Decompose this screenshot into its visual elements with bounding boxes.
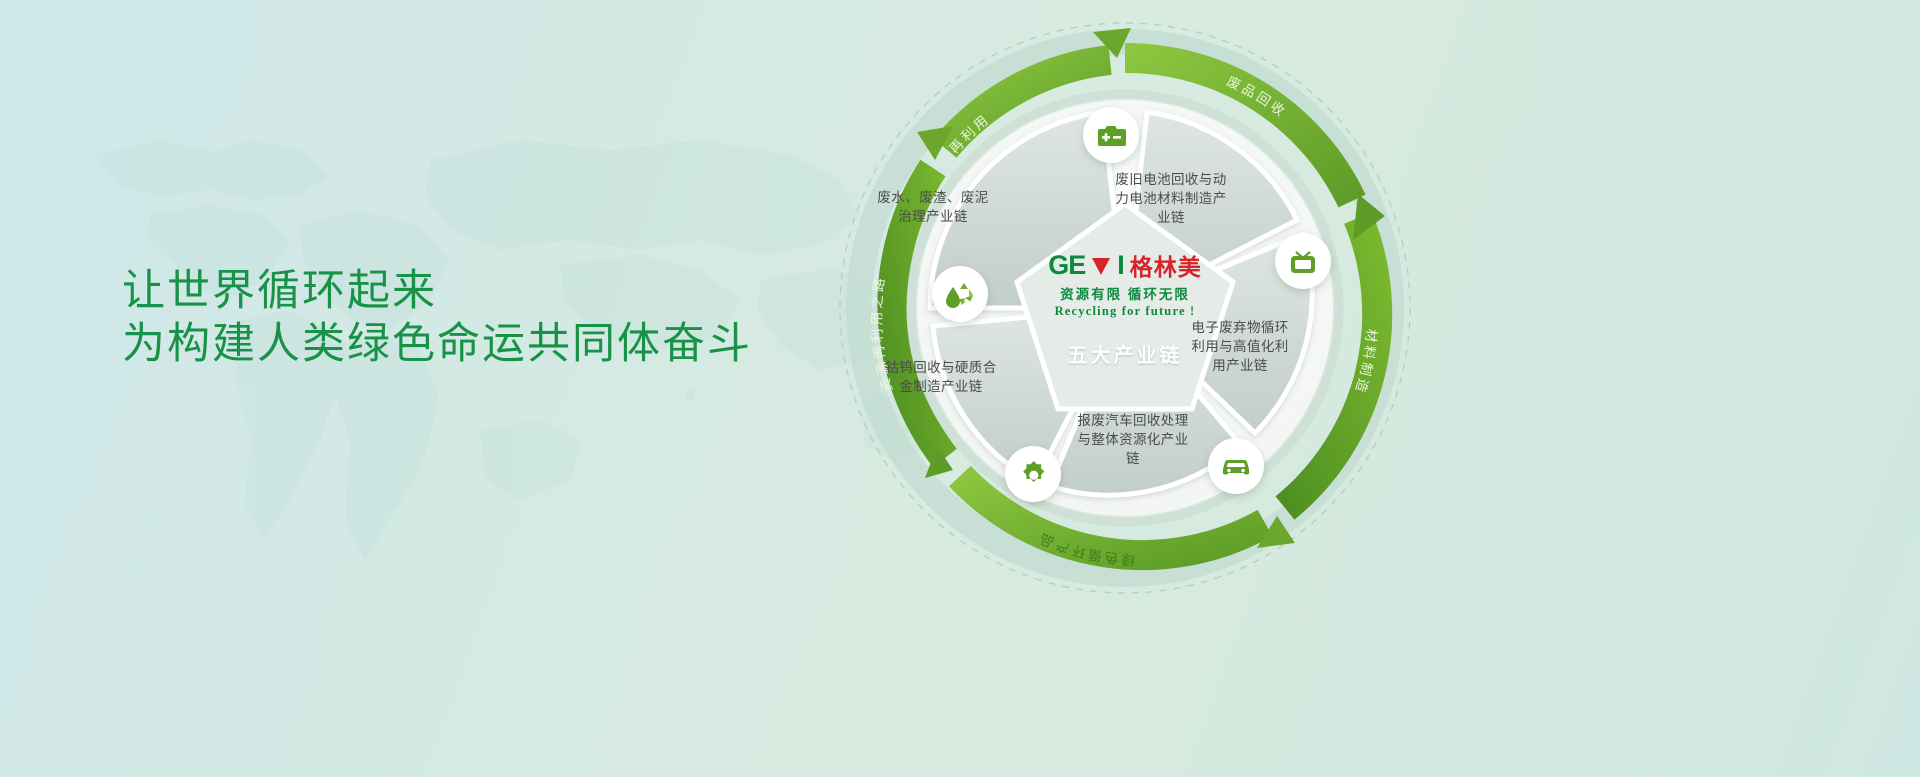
page-title: 让世界循环起来 为构建人类绿色命运共同体奋斗	[122, 265, 902, 371]
gear-icon	[1005, 446, 1061, 502]
headline-line-2: 为构建人类绿色命运共同体奋斗	[122, 318, 902, 371]
car-icon	[1208, 438, 1264, 494]
recycle-drop-icon	[932, 266, 988, 322]
circular-economy-diagram: 废品回收 材料制造 绿色循环产品 资源再利用之路 再利用	[825, 8, 1425, 608]
battery-icon	[1083, 107, 1139, 163]
tv-icon	[1275, 233, 1331, 289]
headline-line-1: 让世界循环起来	[122, 265, 902, 318]
